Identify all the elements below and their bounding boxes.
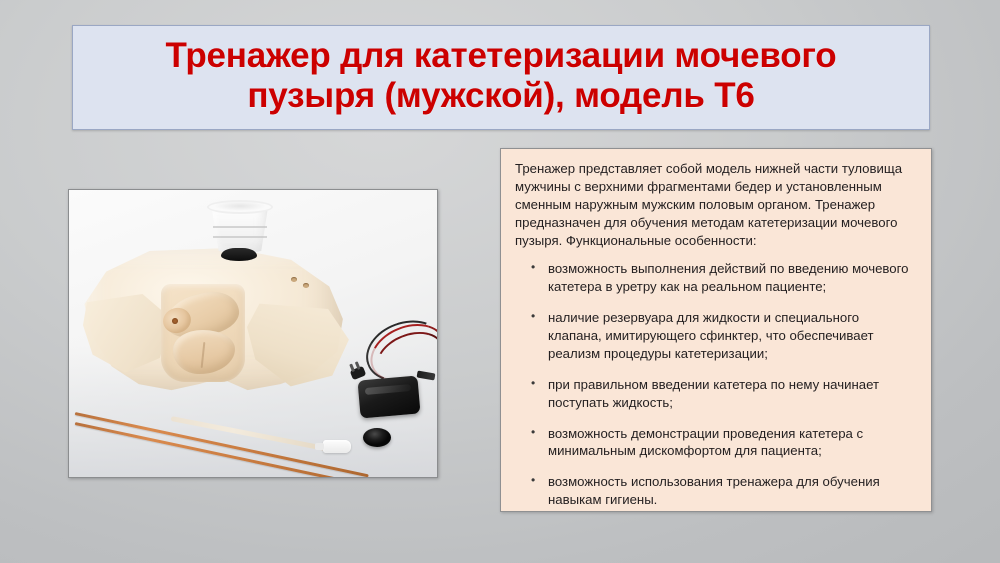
feature-list-item: возможность демонстрации проведения кате… [515, 425, 916, 461]
description-panel: Тренажер представляет собой модель нижне… [500, 148, 932, 512]
reservoir-cup-ring [213, 236, 267, 238]
torso-port [303, 283, 309, 288]
product-photo-frame [68, 189, 438, 478]
reservoir-cup-base [221, 248, 257, 261]
urethral-meatus [172, 318, 178, 324]
title-banner: Тренажер для катетеризации мочевого пузы… [72, 25, 930, 130]
power-adapter [357, 375, 420, 418]
reservoir-cup-rim [207, 200, 273, 214]
feature-list-item: при правильном введении катетера по нему… [515, 376, 916, 412]
reservoir-cup-ring [213, 226, 267, 228]
torso-port [291, 277, 297, 282]
feature-list: возможность выполнения действий по введе… [515, 260, 916, 509]
rubber-cap [363, 428, 391, 447]
feature-list-item: возможность использования тренажера для … [515, 473, 916, 509]
feature-list-item: наличие резервуара для жидкости и специа… [515, 309, 916, 363]
product-photo [69, 190, 437, 477]
intro-paragraph: Тренажер представляет собой модель нижне… [515, 160, 916, 249]
page-title: Тренажер для катетеризации мочевого пузы… [166, 36, 837, 114]
slide-canvas: Тренажер для катетеризации мочевого пузы… [0, 0, 1000, 563]
feature-list-item: возможность выполнения действий по введе… [515, 260, 916, 296]
catheter-connector [323, 440, 351, 453]
